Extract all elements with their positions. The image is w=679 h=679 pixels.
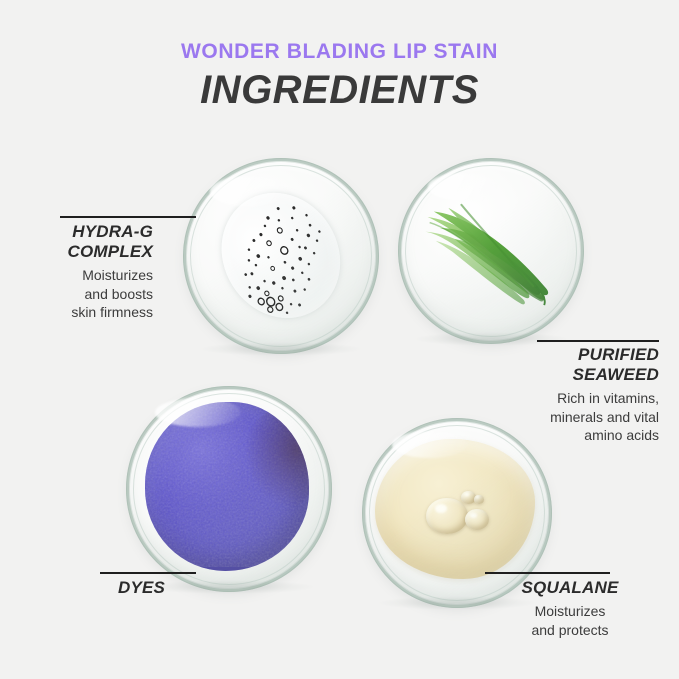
petri-dish-hydra-g-complex [183, 158, 379, 354]
label-title-line1: PURIFIED [480, 345, 659, 365]
label-title: DYES [118, 578, 258, 598]
label-title-line1: DYES [118, 578, 258, 598]
label-description: Moisturizes and boosts skin firmness [0, 266, 153, 321]
dish-shadow [413, 332, 569, 346]
leader-line-hydra-g [60, 216, 196, 218]
label-title-line2: SEAWEED [480, 365, 659, 385]
label-hydra-g-complex: HYDRA-G COMPLEX Moisturizes and boosts s… [0, 222, 153, 322]
label-title: PURIFIED SEAWEED [480, 345, 659, 385]
label-desc-line1: Rich in vitamins, [480, 389, 659, 407]
label-desc-line2: and protects [495, 621, 645, 639]
label-desc-line3: amino acids [480, 426, 659, 444]
label-desc-line1: Moisturizes [0, 266, 153, 284]
header-block: WONDER BLADING LIP STAIN INGREDIENTS [0, 40, 679, 113]
label-squalane: SQUALANE Moisturizes and protects [495, 578, 645, 639]
label-title-line2: COMPLEX [0, 242, 153, 262]
label-title: SQUALANE [495, 578, 645, 598]
label-title-line1: SQUALANE [495, 578, 645, 598]
dish-shadow [199, 342, 364, 356]
label-desc-line3: skin firmness [0, 303, 153, 321]
ingredients-infographic: WONDER BLADING LIP STAIN INGREDIENTS [0, 0, 679, 679]
label-dyes: DYES [118, 578, 258, 598]
label-desc-line2: and boosts [0, 285, 153, 303]
page-title: INGREDIENTS [0, 67, 679, 113]
petri-dish-dyes [126, 386, 332, 592]
leader-line-seaweed [537, 340, 659, 342]
label-purified-seaweed: PURIFIED SEAWEED Rich in vitamins, miner… [480, 345, 659, 445]
dish-highlight [210, 176, 288, 207]
label-title-line1: HYDRA-G [0, 222, 153, 242]
label-desc-line1: Moisturizes [495, 602, 645, 620]
label-description: Rich in vitamins, minerals and vital ami… [480, 389, 659, 444]
petri-dish-purified-seaweed [398, 158, 584, 344]
product-subtitle: WONDER BLADING LIP STAIN [0, 40, 679, 63]
label-desc-line2: minerals and vital [480, 408, 659, 426]
dish-highlight [392, 431, 468, 458]
dish-highlight [428, 173, 499, 201]
label-title: HYDRA-G COMPLEX [0, 222, 153, 262]
label-description: Moisturizes and protects [495, 602, 645, 639]
leader-line-squalane [485, 572, 610, 574]
leader-line-dyes [100, 572, 196, 574]
